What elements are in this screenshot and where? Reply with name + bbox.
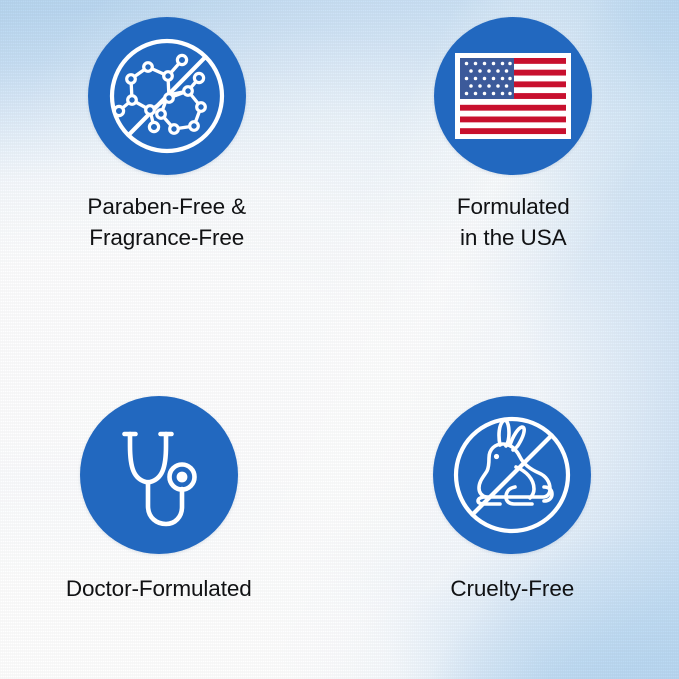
- badge-label: Paraben-Free & Fragrance-Free: [87, 191, 246, 253]
- badge-icon-circle: [80, 396, 238, 554]
- usa-flag-icon: [455, 53, 571, 139]
- badge-icon-circle: [88, 17, 246, 175]
- product-claims-graphic: Paraben-Free & Fragrance-Free: [0, 0, 679, 679]
- badge-label: Formulated in the USA: [457, 191, 570, 253]
- badge-icon-circle: [433, 396, 591, 554]
- badge-label: Doctor-Formulated: [66, 573, 252, 604]
- badge-label: Cruelty-Free: [450, 573, 574, 604]
- badge-formulated-in-usa: Formulated in the USA: [340, 0, 679, 340]
- badge-grid: Paraben-Free & Fragrance-Free: [0, 0, 679, 679]
- badge-doctor-formulated: Doctor-Formulated: [0, 340, 340, 679]
- no-parabens-molecule-icon: [102, 31, 232, 161]
- stethoscope-icon: [104, 420, 214, 530]
- badge-paraben-fragrance-free: Paraben-Free & Fragrance-Free: [0, 0, 340, 340]
- no-animal-testing-rabbit-icon: [446, 409, 578, 541]
- badge-cruelty-free: Cruelty-Free: [340, 340, 679, 679]
- badge-icon-circle: [434, 17, 592, 175]
